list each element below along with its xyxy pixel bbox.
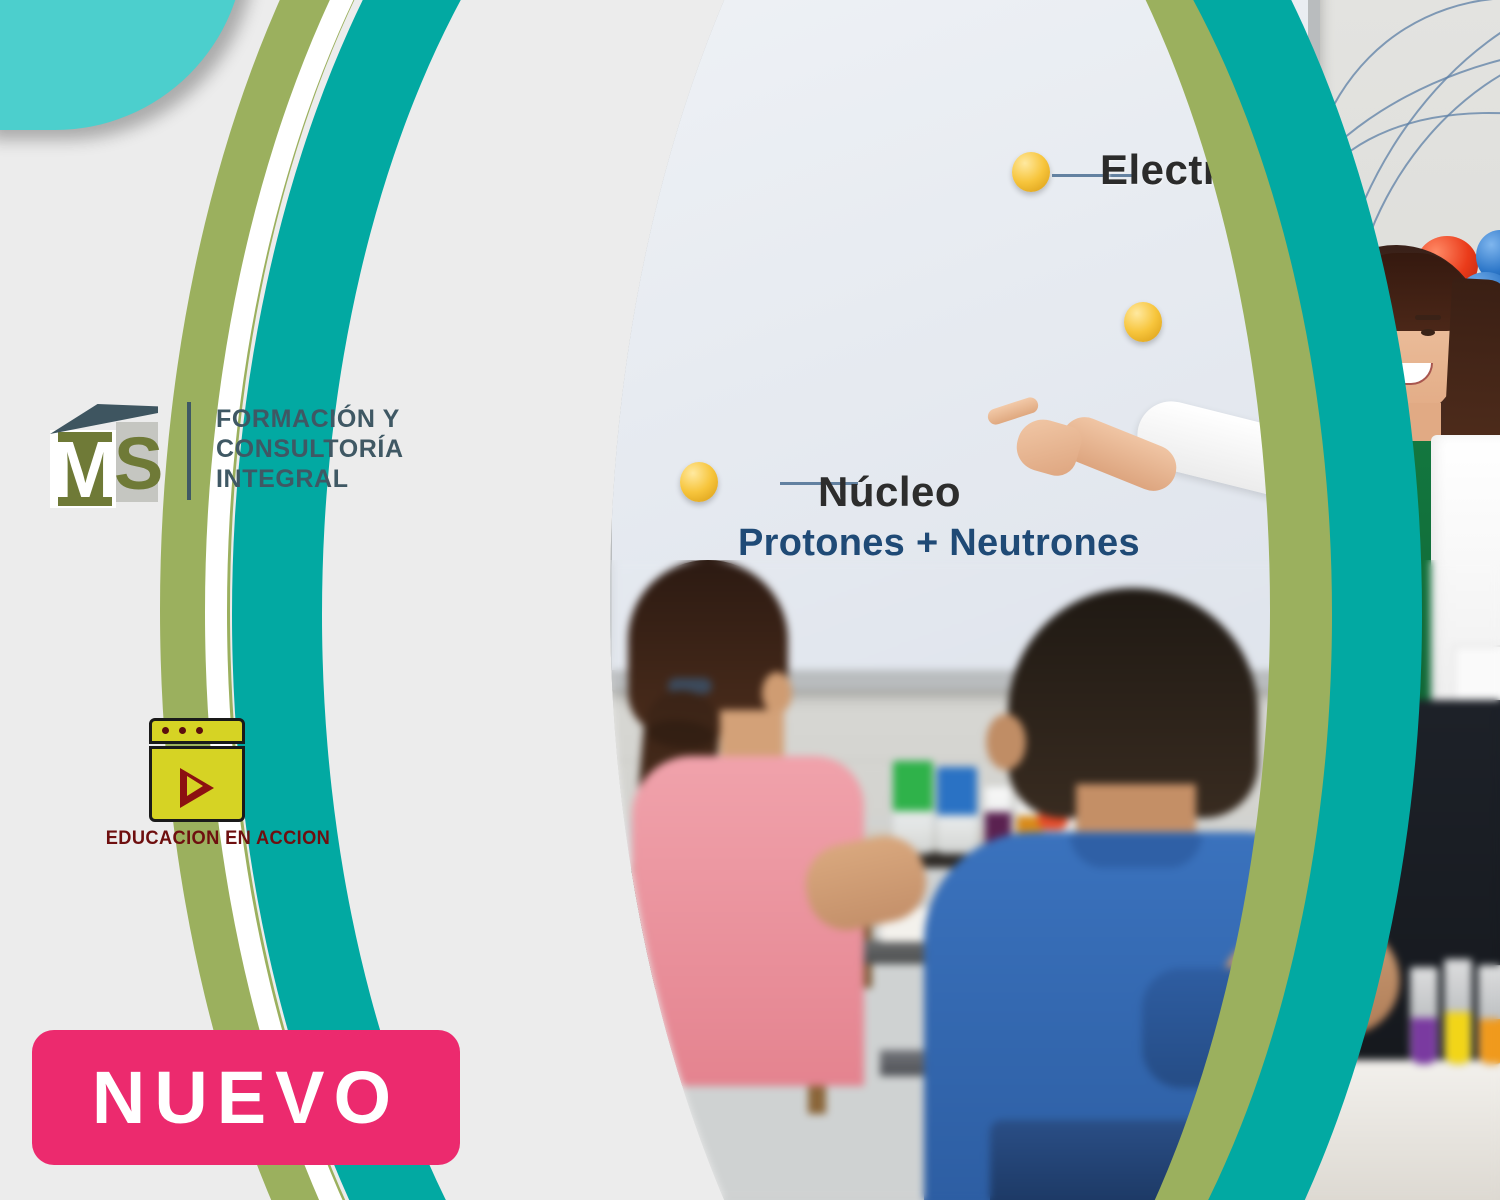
window-dot-3 [196, 727, 203, 734]
front-test-tube-rack [1410, 955, 1500, 1065]
cube-letter-s: S [114, 426, 158, 504]
front-tube-orange [1478, 965, 1500, 1065]
window-dot-1 [162, 727, 169, 734]
turquoise-corner-shape [0, 0, 245, 130]
cube-mark: M S [50, 404, 158, 504]
teacher-brow-right [1415, 315, 1441, 320]
logo-divider [187, 402, 191, 500]
cube-letter-m: M [52, 430, 116, 510]
education-in-action-caption: EDUCACION EN ACCION [103, 828, 333, 850]
education-in-action-logo: EDUCACION EN ACCION [140, 718, 290, 848]
brand-name: FORMACIÓN Y CONSULTORÍA INTEGRAL [216, 404, 404, 494]
brand-name-line-2: CONSULTORÍA [216, 434, 404, 464]
browser-window-icon [149, 718, 245, 822]
decorative-arc-teal [232, 0, 1422, 1200]
brand-logo: M S FORMACIÓN Y CONSULTORÍA INTEGRAL [50, 398, 350, 508]
window-dot-2 [179, 727, 186, 734]
nuevo-badge[interactable]: NUEVO [32, 1030, 460, 1165]
front-tube-yellow [1444, 959, 1472, 1065]
play-icon-inner [187, 776, 203, 796]
brand-name-line-1: FORMACIÓN Y [216, 404, 404, 434]
brand-name-line-3: INTEGRAL [216, 464, 404, 494]
teacher-eye-right [1421, 329, 1435, 336]
nuevo-badge-label: NUEVO [92, 1055, 400, 1140]
poster-canvas: Electrones Núcleo Protones + Neutrones [0, 0, 1500, 1200]
front-tube-purple [1410, 967, 1438, 1065]
